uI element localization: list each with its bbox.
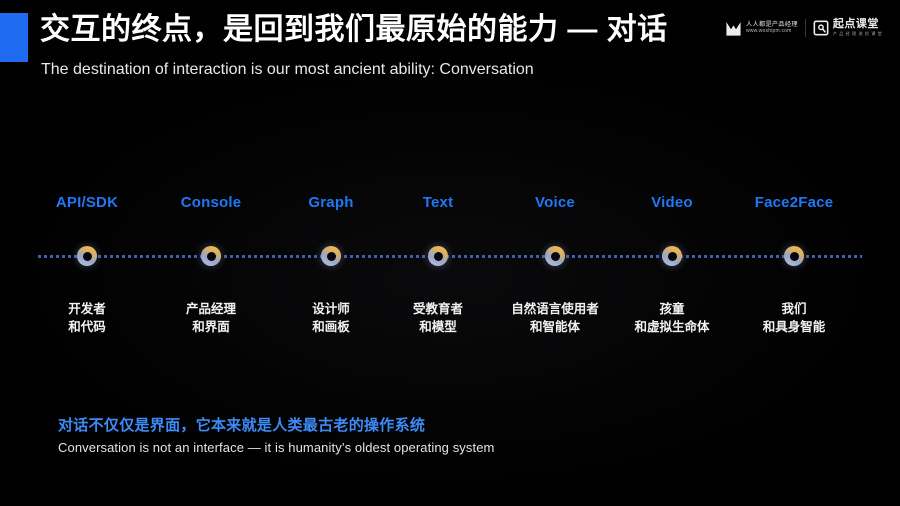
qidian-logo: 起点课堂 产品经理进阶课堂 bbox=[813, 19, 884, 36]
qidian-tagline: 产品经理进阶课堂 bbox=[833, 32, 884, 36]
title-accent-bar bbox=[0, 13, 28, 62]
woshipm-url: www.woshipm.com bbox=[746, 29, 798, 34]
page-title: 交互的终点，是回到我们最原始的能力 — 对话 bbox=[40, 12, 668, 48]
woshipm-logo: 人人都是产品经理 www.woshipm.com bbox=[725, 20, 798, 37]
timeline-node-caption-4: 自然语言使用者和智能体 bbox=[511, 300, 599, 336]
timeline-node-marker-0[interactable] bbox=[74, 243, 100, 269]
timeline-node-label-1[interactable]: Console bbox=[181, 194, 242, 211]
page-subtitle: The destination of interaction is our mo… bbox=[41, 58, 534, 81]
timeline-node-caption-5: 孩童和虚拟生命体 bbox=[634, 300, 709, 336]
mountain-m-icon bbox=[725, 20, 742, 37]
timeline-node-marker-5[interactable] bbox=[659, 243, 685, 269]
timeline-node-label-5[interactable]: Video bbox=[651, 194, 693, 211]
timeline-node-label-0[interactable]: API/SDK bbox=[56, 194, 118, 211]
timeline-node-marker-1[interactable] bbox=[198, 243, 224, 269]
caption-line-1: 自然语言使用者 bbox=[511, 300, 599, 318]
ring-icon bbox=[784, 246, 804, 266]
timeline-node-caption-0: 开发者和代码 bbox=[68, 300, 106, 336]
caption-line-1: 我们 bbox=[763, 300, 826, 318]
footer-quote-zh: 对话不仅仅是界面，它本来就是人类最古老的操作系统 bbox=[58, 414, 425, 435]
timeline-node-label-2[interactable]: Graph bbox=[308, 194, 353, 211]
caption-line-1: 产品经理 bbox=[186, 300, 236, 318]
caption-line-1: 孩童 bbox=[634, 300, 709, 318]
ring-icon bbox=[545, 246, 565, 266]
timeline-node-marker-6[interactable] bbox=[781, 243, 807, 269]
ring-icon bbox=[428, 246, 448, 266]
timeline-node-label-6[interactable]: Face2Face bbox=[755, 194, 834, 211]
slide-canvas: 交互的终点，是回到我们最原始的能力 — 对话 The destination o… bbox=[0, 0, 900, 506]
woshipm-name: 人人都是产品经理 bbox=[746, 22, 798, 28]
timeline-axis-dotted-line bbox=[38, 255, 862, 258]
timeline-node-caption-6: 我们和具身智能 bbox=[763, 300, 826, 336]
ring-icon bbox=[321, 246, 341, 266]
timeline-node-label-3[interactable]: Text bbox=[423, 194, 454, 211]
ring-icon bbox=[201, 246, 221, 266]
caption-line-2: 和界面 bbox=[186, 318, 236, 336]
timeline-node-caption-2: 设计师和画板 bbox=[312, 300, 350, 336]
footer-quote-en: Conversation is not an interface — it is… bbox=[58, 440, 494, 455]
caption-line-2: 和具身智能 bbox=[763, 318, 826, 336]
timeline-node-label-4[interactable]: Voice bbox=[535, 194, 575, 211]
ring-icon bbox=[77, 246, 97, 266]
timeline-node-caption-3: 受教育者和模型 bbox=[413, 300, 463, 336]
qidian-name: 起点课堂 bbox=[833, 19, 884, 30]
caption-line-1: 开发者 bbox=[68, 300, 106, 318]
q-square-icon bbox=[813, 20, 829, 36]
caption-line-2: 和代码 bbox=[68, 318, 106, 336]
timeline-node-marker-4[interactable] bbox=[542, 243, 568, 269]
qidian-text: 起点课堂 产品经理进阶课堂 bbox=[833, 19, 884, 36]
caption-line-2: 和模型 bbox=[413, 318, 463, 336]
caption-line-2: 和画板 bbox=[312, 318, 350, 336]
ring-icon bbox=[662, 246, 682, 266]
caption-line-1: 设计师 bbox=[312, 300, 350, 318]
brand-divider bbox=[805, 19, 806, 37]
caption-line-2: 和虚拟生命体 bbox=[634, 318, 709, 336]
brand-logos: 人人都是产品经理 www.woshipm.com 起点课堂 产品经理进阶课堂 bbox=[725, 19, 884, 37]
timeline-node-caption-1: 产品经理和界面 bbox=[186, 300, 236, 336]
timeline-node-marker-3[interactable] bbox=[425, 243, 451, 269]
woshipm-text: 人人都是产品经理 www.woshipm.com bbox=[746, 22, 798, 35]
timeline-node-marker-2[interactable] bbox=[318, 243, 344, 269]
caption-line-2: 和智能体 bbox=[511, 318, 599, 336]
caption-line-1: 受教育者 bbox=[413, 300, 463, 318]
